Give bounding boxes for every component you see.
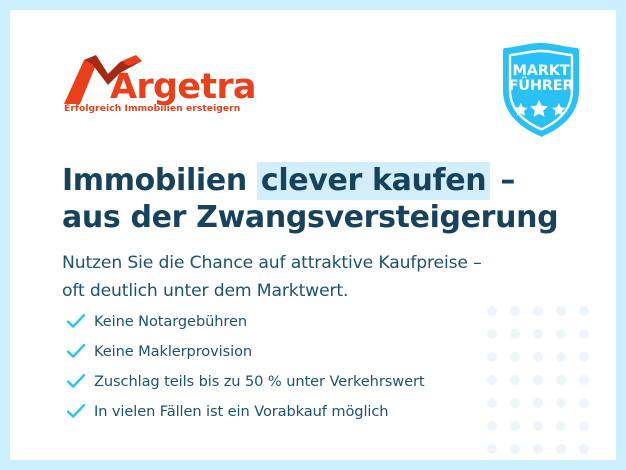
feature-list: Keine Notargebühren Keine Maklerprovisio… [66, 306, 536, 426]
check-icon [66, 310, 94, 332]
list-item-label: Zuschlag teils bis zu 50 % unter Verkehr… [94, 373, 424, 390]
decorative-dot [556, 375, 566, 385]
decorative-dot [556, 444, 566, 454]
decorative-dot [533, 444, 543, 454]
decorative-dot [579, 329, 589, 339]
banner-canvas: Argetra Erfolgreich Immobilien ersteiger… [10, 10, 616, 460]
decorative-dot [556, 352, 566, 362]
list-item: Keine Notargebühren [66, 306, 536, 336]
argetra-logo[interactable]: Argetra Erfolgreich Immobilien ersteiger… [62, 52, 262, 118]
decorative-dot [487, 444, 497, 454]
list-item: In vielen Fällen ist ein Vorabkauf mögli… [66, 396, 536, 426]
decorative-dot [579, 421, 589, 431]
list-item-label: Keine Notargebühren [94, 313, 247, 330]
check-icon [66, 370, 94, 392]
decorative-dot [579, 398, 589, 408]
headline-prefix: Immobilien [62, 163, 257, 198]
decorative-dot [510, 444, 520, 454]
list-item-label: In vielen Fällen ist ein Vorabkauf mögli… [94, 403, 388, 420]
decorative-dot [556, 329, 566, 339]
decorative-dot [556, 398, 566, 408]
logo-tagline: Erfolgreich Immobilien ersteigern [64, 103, 240, 114]
headline-highlight: clever kaufen [257, 162, 490, 200]
check-icon [66, 340, 94, 362]
subtitle-line-2: oft deutlich unter dem Marktwert. [62, 277, 562, 305]
decorative-dot [579, 352, 589, 362]
headline: Immobilien clever kaufen – aus der Zwang… [62, 162, 562, 236]
market-leader-badge: MARKT FÜHRER [495, 42, 587, 138]
decorative-dot [556, 306, 566, 316]
decorative-dot [579, 444, 589, 454]
list-item: Zuschlag teils bis zu 50 % unter Verkehr… [66, 366, 536, 396]
promo-banner: Argetra Erfolgreich Immobilien ersteiger… [0, 0, 626, 470]
decorative-dot [579, 306, 589, 316]
shield-badge-icon [495, 42, 587, 138]
headline-suffix: – [490, 163, 515, 198]
headline-line-2: aus der Zwangsversteigerung [62, 199, 562, 236]
check-icon [66, 400, 94, 422]
logo-wordmark: Argetra [110, 70, 256, 105]
headline-line-1: Immobilien clever kaufen – [62, 162, 562, 199]
subtitle-line-1: Nutzen Sie die Chance auf attraktive Kau… [62, 249, 562, 277]
decorative-dot [556, 421, 566, 431]
list-item: Keine Maklerprovision [66, 336, 536, 366]
subtitle: Nutzen Sie die Chance auf attraktive Kau… [62, 249, 562, 305]
list-item-label: Keine Maklerprovision [94, 343, 252, 360]
decorative-dot [579, 375, 589, 385]
